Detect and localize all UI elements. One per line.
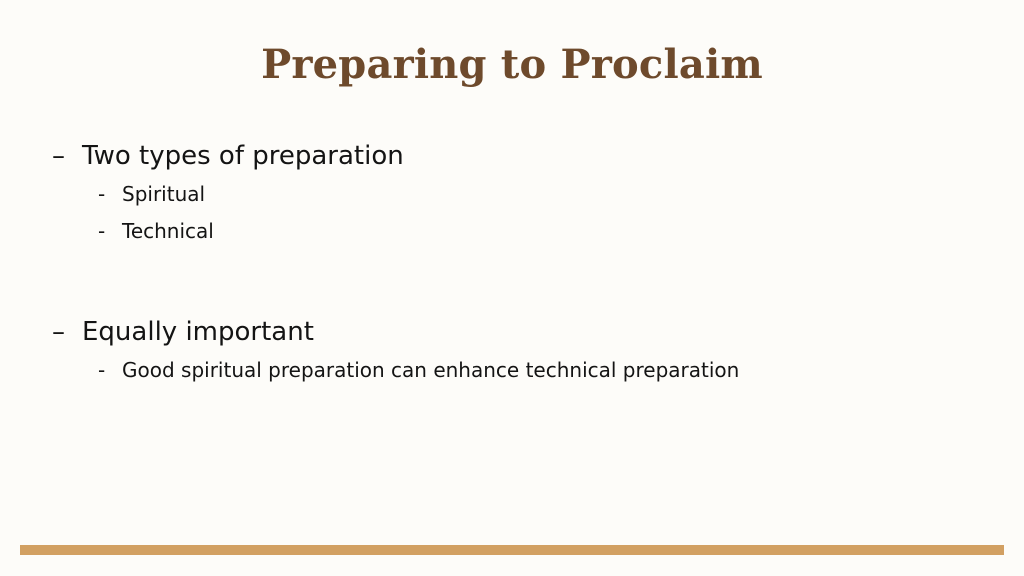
page-title: Preparing to Proclaim	[0, 40, 1024, 90]
bullet-level2-label: Spiritual	[122, 176, 205, 213]
slide: Preparing to Proclaim – Two types of pre…	[0, 0, 1024, 576]
bullet-group: – Two types of preparation - Spiritual -…	[52, 136, 982, 250]
bullet-level2-label: Technical	[122, 213, 214, 250]
bullet-level1: – Two types of preparation	[52, 136, 982, 176]
bullet-group-spacer	[52, 250, 982, 312]
slide-body: – Two types of preparation - Spiritual -…	[52, 136, 982, 389]
bullet-level2-label: Good spiritual preparation can enhance t…	[122, 352, 739, 389]
hyphen-marker-icon: -	[98, 213, 122, 250]
bullet-level2: - Technical	[52, 213, 982, 250]
bullet-level1-label: Two types of preparation	[82, 136, 404, 176]
hyphen-marker-icon: -	[98, 176, 122, 213]
dash-marker-icon: –	[52, 312, 82, 352]
hyphen-marker-icon: -	[98, 352, 122, 389]
bullet-level1-label: Equally important	[82, 312, 314, 352]
footer-accent-bar	[20, 545, 1004, 555]
bullet-level2: - Spiritual	[52, 176, 982, 213]
bullet-level2: - Good spiritual preparation can enhance…	[52, 352, 982, 389]
dash-marker-icon: –	[52, 136, 82, 176]
bullet-level1: – Equally important	[52, 312, 982, 352]
bullet-group: – Equally important - Good spiritual pre…	[52, 312, 982, 389]
